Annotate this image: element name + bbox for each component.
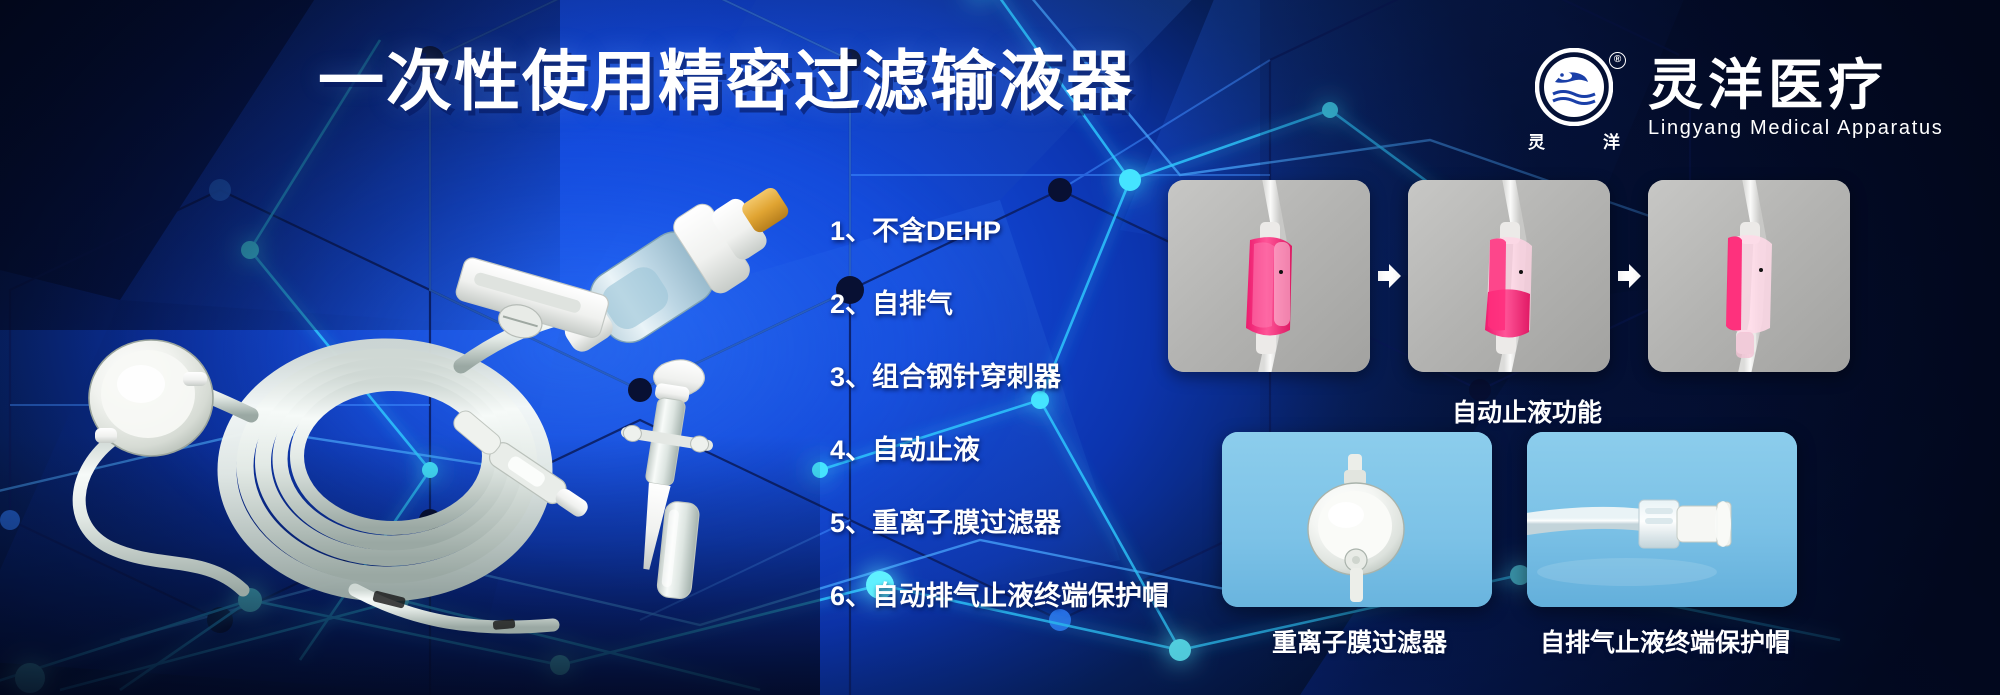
product-photo-infusion-set bbox=[55, 170, 815, 650]
auto-stop-demo-sequence bbox=[1168, 180, 1850, 372]
detail-photo-cap-image bbox=[1527, 432, 1797, 607]
logo-emblem: ® 灵 洋 bbox=[1528, 48, 1626, 148]
feature-item-5: 5、重离子膜过滤器 bbox=[830, 510, 1169, 537]
demo-photo-frame-3 bbox=[1648, 180, 1850, 372]
precision-filter-part bbox=[89, 340, 213, 456]
demo-photo-frame-2 bbox=[1408, 180, 1610, 372]
feature-item-4: 4、自动止液 bbox=[830, 437, 1169, 464]
caption-filter: 重离子膜过滤器 bbox=[1272, 623, 1447, 659]
logo-circle-icon bbox=[1535, 48, 1613, 126]
company-name-cn: 灵洋医疗 bbox=[1648, 56, 1943, 114]
feature-item-3: 3、组合钢针穿刺器 bbox=[830, 364, 1169, 391]
sequence-arrow-1 bbox=[1370, 261, 1408, 291]
logo-emblem-char-right: 洋 bbox=[1603, 128, 1620, 153]
detail-photo-filter bbox=[1222, 432, 1492, 607]
feature-item-1: 1、不含DEHP bbox=[830, 218, 1169, 245]
arrow-right-icon bbox=[1374, 261, 1404, 291]
caption-protective-cap: 自排气止液终端保护帽 bbox=[1540, 623, 1790, 659]
detail-photo-cap bbox=[1527, 432, 1797, 607]
promo-banner: 一次性使用精密过滤输液器 ® 灵 洋 灵洋医疗 Lingyang Medical… bbox=[0, 0, 2000, 695]
feature-list: 1、不含DEHP 2、自排气 3、组合钢针穿刺器 4、自动止液 5、重离子膜过滤… bbox=[830, 218, 1169, 610]
demo-photo-2-image bbox=[1408, 180, 1610, 372]
drip-chamber-part bbox=[545, 170, 808, 378]
caption-auto-stop-function: 自动止液功能 bbox=[1452, 393, 1602, 429]
page-title: 一次性使用精密过滤输液器 bbox=[318, 48, 1134, 114]
sequence-arrow-2 bbox=[1610, 261, 1648, 291]
logo-wordmark: 灵洋医疗 Lingyang Medical Apparatus bbox=[1648, 56, 1943, 139]
logo-emblem-char-left: 灵 bbox=[1528, 128, 1545, 153]
registered-trademark-icon: ® bbox=[1609, 52, 1626, 69]
brand-logo[interactable]: ® 灵 洋 灵洋医疗 Lingyang Medical Apparatus bbox=[1528, 48, 1943, 148]
demo-photo-1-image bbox=[1168, 180, 1370, 372]
company-name-en: Lingyang Medical Apparatus bbox=[1648, 117, 1943, 140]
feature-item-6: 6、自动排气止液终端保护帽 bbox=[830, 583, 1169, 610]
demo-photo-3-image bbox=[1648, 180, 1850, 372]
arrow-right-icon bbox=[1614, 261, 1644, 291]
logo-emblem-subtext: 灵 洋 bbox=[1528, 128, 1620, 153]
demo-photo-frame-1 bbox=[1168, 180, 1370, 372]
feature-item-2: 2、自排气 bbox=[830, 291, 1169, 318]
detail-photo-filter-image bbox=[1222, 432, 1492, 607]
